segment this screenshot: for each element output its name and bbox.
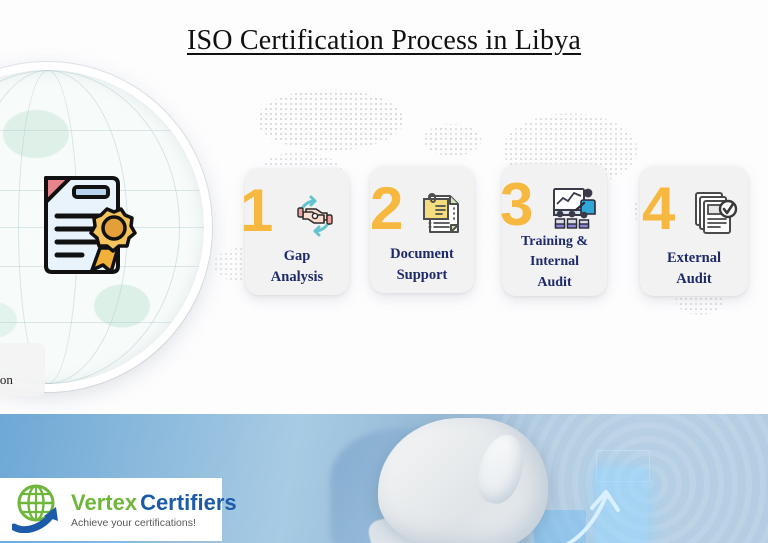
brand-logo[interactable]: VertexCertifiers Achieve your certificat… xyxy=(0,478,222,541)
document-stack-icon xyxy=(418,188,462,241)
handshake-icon xyxy=(291,192,339,245)
audit-documents-check-icon xyxy=(692,188,738,241)
step-1-label: Gap Analysis xyxy=(245,246,349,288)
infographic-canvas: ISO Certification Process in Libya xyxy=(0,0,768,543)
brand-name-part1: Vertex xyxy=(71,490,137,515)
page-title: ISO Certification Process in Libya xyxy=(0,25,768,57)
step-4-label-line1: External xyxy=(667,250,721,266)
step-4-number: 4 xyxy=(642,180,673,238)
step-card-external-audit[interactable]: 4 xyxy=(640,166,748,296)
step-2-label-line1: Document xyxy=(390,246,454,262)
brand-name: VertexCertifiers xyxy=(71,491,237,515)
process-steps: 1 Gap Analysi xyxy=(0,0,768,420)
banner-hand xyxy=(378,418,548,543)
globe-arrow-logo-icon xyxy=(12,481,64,538)
step-2-header: 2 xyxy=(370,172,474,238)
brand-name-part2: Certifiers xyxy=(140,490,237,515)
step-1-label-line1: Gap xyxy=(284,248,311,264)
step-3-label: Training & Internal Audit xyxy=(502,232,607,293)
step-3-header: 3 xyxy=(502,170,607,236)
step-card-training-internal-audit[interactable]: 3 xyxy=(502,164,607,296)
step-card-document-support[interactable]: 2 xyxy=(370,166,474,293)
step-4-label-line2: Audit xyxy=(676,271,711,287)
upward-arrow-icon xyxy=(540,474,660,543)
step-4-header: 4 xyxy=(640,172,748,238)
brand-logo-text: VertexCertifiers Achieve your certificat… xyxy=(71,491,237,529)
step-3-number: 3 xyxy=(500,176,531,234)
step-2-label: Document Support xyxy=(370,244,474,286)
step-1-number: 1 xyxy=(240,182,271,240)
step-card-gap-analysis[interactable]: 1 Gap Analysi xyxy=(245,168,349,295)
brand-tagline: Achieve your certifications! xyxy=(71,517,237,529)
step-3-label-line1: Training & xyxy=(521,234,588,249)
step-2-number: 2 xyxy=(370,180,401,238)
step-3-label-line3: Audit xyxy=(537,275,571,290)
step-4-label: External Audit xyxy=(640,248,748,290)
step-1-label-line2: Analysis xyxy=(271,269,323,285)
step-3-label-line2: Internal xyxy=(530,254,579,269)
training-presentation-icon xyxy=(550,184,598,235)
step-2-label-line2: Support xyxy=(397,267,448,283)
step-1-header: 1 xyxy=(245,174,349,240)
